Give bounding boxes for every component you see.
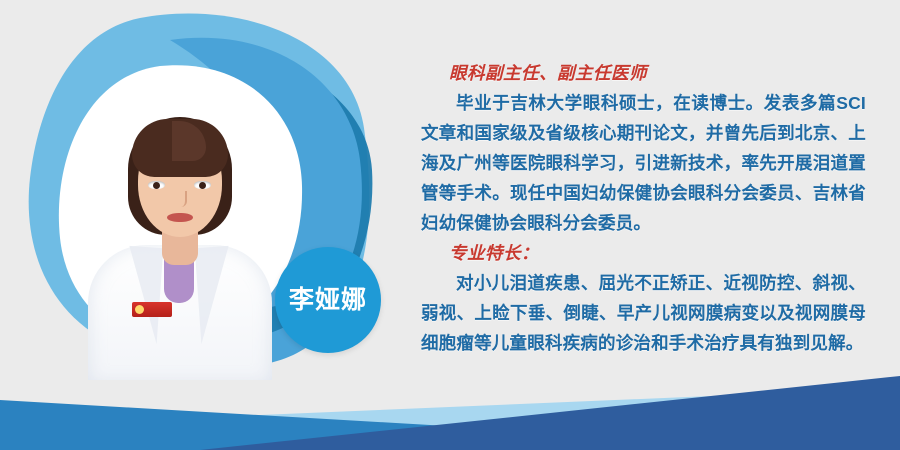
doctor-bio-block: 眼科副主任、副主任医师 毕业于吉林大学眼科硕士，在读博士。发表多篇SCI文章和国… bbox=[421, 58, 866, 358]
doctor-profile-poster: 李娅娜 眼科副主任、副主任医师 毕业于吉林大学眼科硕士，在读博士。发表多篇SCI… bbox=[0, 0, 900, 450]
band-mid-blue bbox=[0, 400, 860, 450]
nose bbox=[176, 191, 187, 207]
hospital-id-badge-icon bbox=[132, 302, 172, 317]
specialty-label: 专业特长： bbox=[421, 238, 866, 268]
doctor-intro-paragraph: 毕业于吉林大学眼科硕士，在读博士。发表多篇SCI文章和国家级及省级核心期刊论文，… bbox=[421, 88, 866, 238]
doctor-photo bbox=[80, 95, 280, 380]
coat-lapel-right bbox=[195, 246, 236, 344]
pupil-left bbox=[153, 182, 160, 189]
mouth bbox=[167, 213, 193, 222]
doctor-name: 李娅娜 bbox=[289, 288, 367, 313]
coat-lapel-left bbox=[123, 246, 164, 344]
doctor-figure bbox=[80, 95, 280, 380]
pupil-right bbox=[199, 182, 206, 189]
doctor-specialty-paragraph: 对小儿泪道疾患、屈光不正矫正、近视防控、斜视、弱视、上睑下垂、倒睫、早产儿视网膜… bbox=[421, 268, 866, 358]
doctor-title: 眼科副主任、副主任医师 bbox=[421, 58, 866, 88]
doctor-name-badge: 李娅娜 bbox=[275, 247, 381, 353]
